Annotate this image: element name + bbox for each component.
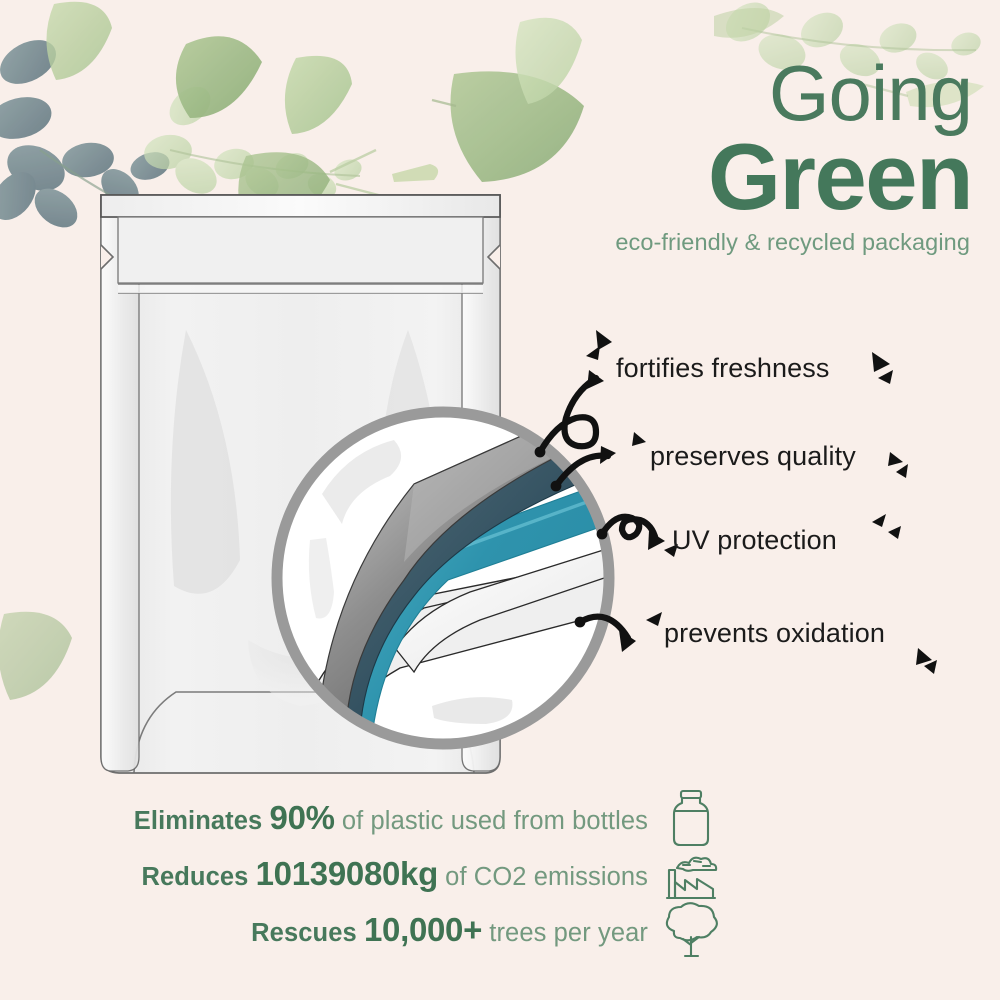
title-line-going: Going: [560, 56, 972, 131]
stat-row-co2: Reduces 10139080kg of CO2 emissions: [0, 846, 730, 902]
infographic-poster: Going Green eco-friendly & recycled pack…: [0, 0, 1000, 1000]
title-line-green: Green: [560, 131, 972, 223]
stat-row-trees: Rescues 10,000+ trees per year: [0, 902, 730, 958]
feature-label-fortifies-freshness: fortifies freshness: [616, 353, 829, 384]
tree-icon: [660, 899, 722, 961]
subtitle: eco-friendly & recycled packaging: [560, 229, 970, 256]
feature-label-uv-protection: UV protection: [672, 525, 837, 556]
stat-lead-co2: Reduces: [141, 863, 248, 891]
stat-lead-trees: Rescues: [251, 919, 357, 947]
stat-figure-trees: 10,000+: [364, 911, 482, 948]
factory-icon: [660, 843, 722, 905]
stat-row-plastic: Eliminates 90% of plastic used from bott…: [0, 790, 730, 846]
stat-figure-plastic: 90%: [270, 799, 335, 836]
stat-tail-plastic: of plastic used from bottles: [342, 807, 648, 835]
stat-text-plastic: Eliminates 90% of plastic used from bott…: [134, 799, 648, 837]
stat-text-trees: Rescues 10,000+ trees per year: [251, 911, 648, 949]
stat-text-co2: Reduces 10139080kg of CO2 emissions: [141, 855, 648, 893]
statistics-list: Eliminates 90% of plastic used from bott…: [0, 790, 730, 958]
stat-tail-co2: of CO2 emissions: [445, 863, 648, 891]
bottle-icon: [660, 787, 722, 849]
feature-label-prevents-oxidation: prevents oxidation: [664, 618, 885, 649]
heading-block: Going Green eco-friendly & recycled pack…: [560, 56, 972, 256]
stat-tail-trees: trees per year: [489, 919, 648, 947]
stat-figure-co2: 10139080kg: [256, 855, 438, 892]
feature-label-preserves-quality: preserves quality: [650, 441, 856, 472]
stat-lead-plastic: Eliminates: [134, 807, 263, 835]
